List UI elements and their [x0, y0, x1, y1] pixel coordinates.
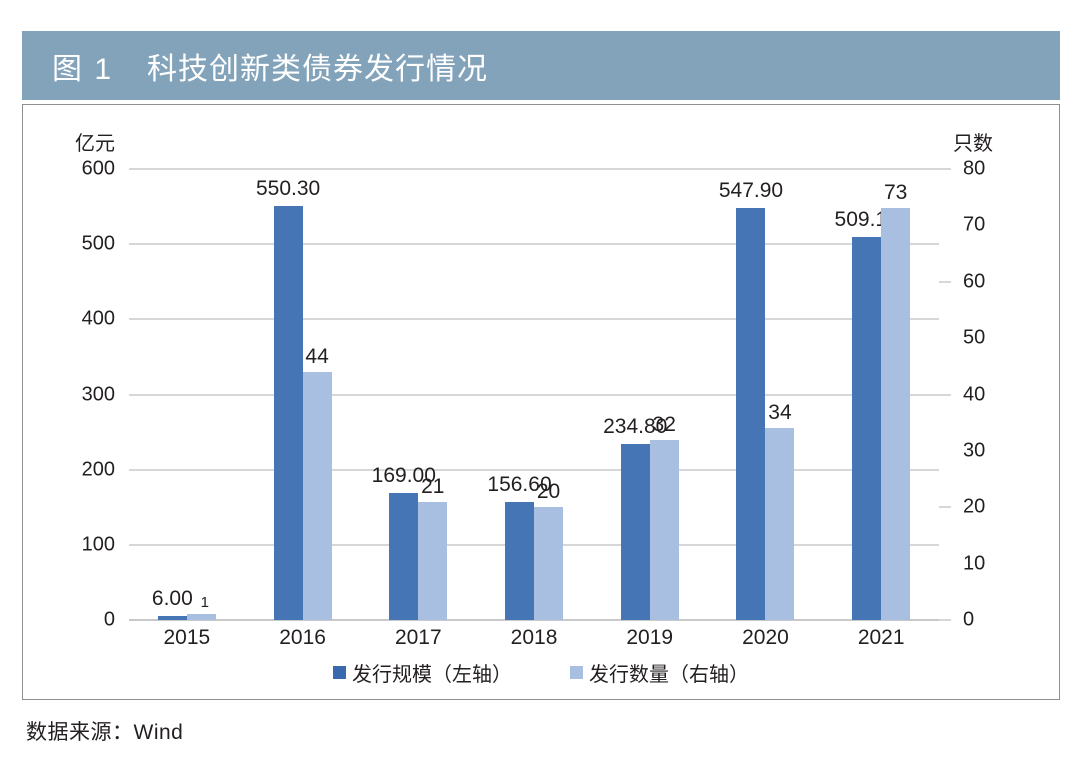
legend-item-count[interactable]: 发行数量（右轴）	[570, 658, 749, 687]
y-axis-tick-left: 300	[82, 383, 115, 406]
x-axis-labels: 2015201620172018201920202021	[129, 626, 939, 650]
bar-issuance-count-2020[interactable]: 34	[765, 428, 794, 620]
y-axis-tick-mark-right	[939, 281, 951, 283]
y-axis-tick-right: 30	[963, 439, 985, 462]
bar-label-amount-2020: 547.90	[719, 179, 783, 203]
bar-issuance-amount-2016[interactable]: 550.30	[274, 206, 303, 620]
bar-issuance-amount-2021[interactable]: 509.19	[852, 237, 881, 620]
x-axis-label-2015: 2015	[129, 626, 245, 650]
bar-group-2015: 6.001	[129, 169, 245, 620]
data-source: 数据来源：Wind	[26, 716, 183, 746]
legend-swatch-icon	[570, 666, 583, 679]
bar-label-count-2015: 1	[201, 594, 209, 611]
bar-label-count-2016: 44	[305, 345, 328, 369]
figure-title: 科技创新类债券发行情况	[147, 44, 488, 88]
bar-group-2018: 156.6020	[476, 169, 592, 620]
chart-container: 亿元 只数 6005004003002001000807060504030201…	[22, 104, 1060, 700]
bar-pair: 509.1973	[852, 169, 910, 620]
x-axis-label-2020: 2020	[708, 626, 824, 650]
y-axis-tick-mark-right	[939, 168, 951, 170]
x-axis-label-2019: 2019	[592, 626, 708, 650]
bar-group-2017: 169.0021	[360, 169, 476, 620]
y-axis-tick-left: 100	[82, 533, 115, 556]
x-axis-label-2021: 2021	[823, 626, 939, 650]
y-axis-tick-mark-right	[939, 619, 951, 621]
y-axis-tick-mark-right	[939, 394, 951, 396]
y-axis-tick-left: 0	[104, 609, 115, 632]
bar-issuance-count-2015[interactable]: 1	[187, 614, 216, 620]
bar-issuance-amount-2019[interactable]: 234.80	[621, 444, 650, 620]
figure-page: 图 1 科技创新类债券发行情况 亿元 只数 600500400300200100…	[0, 0, 1080, 759]
bar-label-amount-2015: 6.00	[152, 587, 193, 611]
bar-pair: 156.6020	[505, 169, 563, 620]
y-axis-tick-right: 50	[963, 327, 985, 350]
legend-label: 发行数量（右轴）	[589, 658, 749, 687]
figure-number: 图 1	[52, 44, 113, 88]
chart-legend: 发行规模（左轴）发行数量（右轴）	[23, 658, 1059, 687]
y-axis-tick-right: 40	[963, 383, 985, 406]
legend-label: 发行规模（左轴）	[352, 658, 512, 687]
bar-issuance-amount-2018[interactable]: 156.60	[505, 502, 534, 620]
y-axis-tick-right: 20	[963, 496, 985, 519]
legend-swatch-icon	[333, 666, 346, 679]
x-axis-label-2017: 2017	[360, 626, 476, 650]
bar-label-count-2017: 21	[421, 475, 444, 499]
bar-issuance-count-2016[interactable]: 44	[303, 372, 332, 620]
y-axis-tick-right: 0	[963, 609, 974, 632]
bar-pair: 547.9034	[736, 169, 794, 620]
y-axis-tick-left: 200	[82, 458, 115, 481]
bar-pair: 550.3044	[274, 169, 332, 620]
legend-item-amount[interactable]: 发行规模（左轴）	[333, 658, 512, 687]
y-axis-tick-right: 10	[963, 552, 985, 575]
x-axis-label-2016: 2016	[245, 626, 361, 650]
bar-group-2020: 547.9034	[708, 169, 824, 620]
y-axis-tick-right: 60	[963, 270, 985, 293]
y-axis-tick-left: 500	[82, 233, 115, 256]
y-axis-tick-left: 400	[82, 308, 115, 331]
bar-group-2016: 550.3044	[245, 169, 361, 620]
y-axis-unit-right: 只数	[953, 127, 993, 156]
bar-issuance-count-2018[interactable]: 20	[534, 507, 563, 620]
y-axis-tick-mark-right	[939, 506, 951, 508]
x-axis-label-2018: 2018	[476, 626, 592, 650]
bar-issuance-count-2017[interactable]: 21	[418, 502, 447, 620]
bar-label-amount-2016: 550.30	[256, 177, 320, 201]
bar-issuance-count-2019[interactable]: 32	[650, 440, 679, 620]
y-axis-tick-left: 600	[82, 158, 115, 181]
bar-issuance-count-2021[interactable]: 73	[881, 208, 910, 620]
bar-pair: 234.8032	[621, 169, 679, 620]
bar-label-count-2019: 32	[653, 413, 676, 437]
y-axis-tick-right: 80	[963, 158, 985, 181]
figure-title-bar: 图 1 科技创新类债券发行情况	[22, 31, 1060, 100]
bar-group-2021: 509.1973	[823, 169, 939, 620]
bar-group-2019: 234.8032	[592, 169, 708, 620]
plot-area: 6005004003002001000807060504030201006.00…	[129, 169, 939, 620]
bar-pair: 6.001	[158, 169, 216, 620]
bar-issuance-amount-2015[interactable]: 6.00	[158, 616, 187, 621]
bar-label-count-2018: 20	[537, 480, 560, 504]
bar-label-count-2020: 34	[768, 401, 791, 425]
bar-issuance-amount-2017[interactable]: 169.00	[389, 493, 418, 620]
y-axis-tick-right: 70	[963, 214, 985, 237]
bar-groups: 6.001550.3044169.0021156.6020234.8032547…	[129, 169, 939, 620]
bar-pair: 169.0021	[389, 169, 447, 620]
bar-label-count-2021: 73	[884, 181, 907, 205]
bar-issuance-amount-2020[interactable]: 547.90	[736, 208, 765, 620]
y-axis-unit-left: 亿元	[75, 127, 115, 156]
